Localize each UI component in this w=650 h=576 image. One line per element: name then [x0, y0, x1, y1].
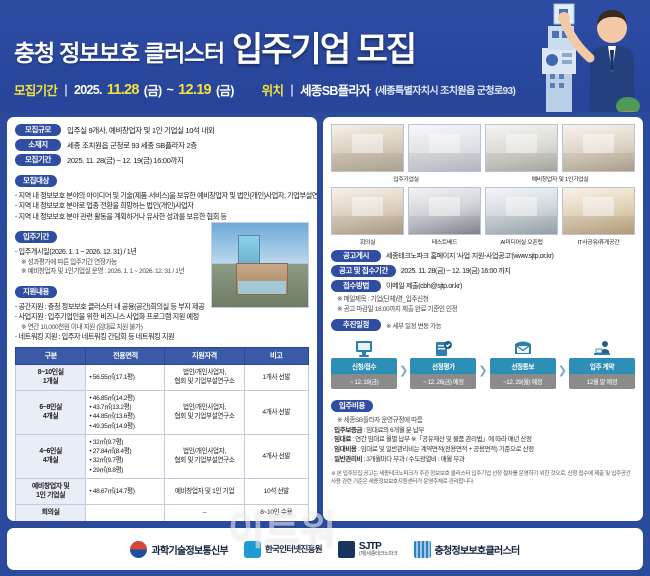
th-area: 전용면적 [86, 347, 165, 364]
facility-caption: IT사공유/휴게공간 [562, 237, 635, 246]
period-start-day: (금) [144, 80, 162, 99]
schedule-head: 추진일정 ※ 세부 일정 변동 가능 [331, 319, 635, 331]
building-glass [238, 281, 286, 294]
support-item: · 네트워킹 지원 : 입주자 네트워킹 간담회 등 네트워킹 지원 [15, 332, 205, 342]
cell-remark: 8~10인 수용 [244, 505, 308, 521]
schedule-step-date: ~ 12. 19(금) [331, 374, 397, 389]
notice-note-text: 공고 마감일 16:00까지 제출 완료 기준인 인정 [344, 306, 458, 313]
location-address: (세종특별자치시 조치원읍 군청로93) [375, 82, 515, 97]
label-target: 모집대상 [15, 175, 57, 187]
table-row: 6~8인실4개실• 46.85㎡(14.2평)• 43.7㎡(13.2평)• 4… [16, 391, 309, 435]
facility-caption-row2: 회의실 테스트베드 AI미디어실 오픈랩 IT사공유/휴게공간 [331, 237, 635, 246]
contract-icon [569, 336, 635, 358]
cluster-icon [414, 541, 431, 558]
poster-body: 모집규모 입주실 9개사, 예비창업자 및 1인 기업실 10석 내외 소재지 … [0, 112, 650, 524]
right-info-panel: 입주기업실 예비창업자 및 1인기업실 회의실 테스트베드 AI미디어실 오픈랩… [323, 117, 643, 521]
th-category: 구분 [16, 347, 86, 364]
logo-sjtp-text: SJTP [359, 541, 398, 552]
label-scale: 모집규모 [15, 124, 61, 136]
header-title: 입주기업 모집 [232, 22, 415, 71]
facility-photo [408, 124, 481, 172]
support-item: · 공간지원 : 충청 정보보호 클러스터 내 공용(공간)회의실 등 부지 제… [15, 302, 205, 312]
schedule-step-date: 12월 말 예정 [569, 374, 635, 389]
schedule-flow: 신청/접수 ~ 12. 19(금) ❯ 선정평가 ~ 12. 26(금) 예정 … [331, 336, 635, 389]
location-label: 위치 [262, 80, 284, 99]
cell-area: • 46.85㎡(14.2평)• 43.7㎡(13.2평)• 44.85㎡(13… [86, 391, 165, 435]
occupancy-note-text: 성과평가에 따른 입주기간 연장가능 [28, 259, 117, 266]
label-location: 소재지 [15, 139, 61, 151]
info-row-scale: 모집규모 입주실 9개사, 예비창업자 및 1인 기업실 10석 내외 [15, 124, 309, 136]
facility-caption: AI미디어실 오픈랩 [485, 237, 558, 246]
logo-sjtp-sub: (재)세종테크노파크 [359, 552, 398, 558]
facility-photo [485, 124, 558, 172]
th-remark: 비고 [244, 347, 308, 364]
section-head-support: 지원내용 [15, 281, 205, 299]
label-occupancy-period: 입주기간 [15, 231, 57, 243]
value-method: 이메일 제출(cbh@sjtp.or.kr) [386, 281, 462, 291]
label-period: 모집기간 [15, 154, 61, 166]
cell-category: 4~6인실4개실 [16, 434, 86, 478]
info-row-period: 모집기간 2025. 11. 28(금) ~ 12. 19(금) 16:00까지 [15, 154, 309, 166]
notice-row-method: 접수방법 이메일 제출(cbh@sjtp.or.kr) [331, 280, 635, 292]
logo-kisa-text: 한국인터넷진흥원 [265, 543, 322, 555]
period-separator: | [64, 83, 67, 97]
period-label: 모집기간 [14, 80, 57, 99]
schedule-step-title: 선정통보 [490, 358, 556, 374]
building-photo [211, 222, 309, 308]
logo-kisa: 한국인터넷진흥원 [244, 541, 322, 558]
left-info-panel: 모집규모 입주실 9개사, 예비창업자 및 1인 기업실 10석 내외 소재지 … [7, 117, 317, 521]
poster-root: 충청 정보보호 클러스터 입주기업 모집 모집기간 | 2025. 11.28 … [0, 0, 650, 576]
logo-cluster: 충청정보보호클러스터 [414, 541, 520, 558]
schedule-note: ※ 세부 일정 변동 가능 [386, 320, 441, 330]
label-support: 지원내용 [15, 286, 57, 298]
target-item-text: 지역 내 정보보호 분야 관련 활동을 계획하거나 유사한 성과를 보유한 협회… [19, 212, 227, 221]
label-window: 공고 및 접수기간 [331, 265, 396, 277]
cost-item-key: 임대비용 [334, 446, 356, 453]
period-support-text: 입주기간 · 입주개시일(2026. 1. 1 ~ 2026. 12. 31) … [15, 222, 205, 342]
cell-category: 회의실 [16, 505, 86, 521]
support-item-text: 사업지원 : 입주기업인을 위한 비즈니스 사업화 프로그램 지원 예정 [19, 312, 199, 321]
facility-photo-grid-row1 [331, 124, 635, 172]
cost-item-key: 일반관리비 [334, 456, 362, 463]
period-start: 11.28 [107, 82, 139, 98]
occupancy-note: ※ 예비창업자 및 1인기업실 운영 : 2026. 1. 1 ~ 2026. … [15, 267, 205, 277]
fine-print: ※ 본 입주모집 공고는 세종테크노파크가 주관 정보보호 클러스터 입주기업 … [331, 470, 635, 487]
poster-footer: 과학기술정보통신부 한국인터넷진흥원 SJTP (재)세종테크노파크 충청정보보… [7, 528, 643, 570]
facility-photo [331, 124, 404, 172]
header-title-row: 충청 정보보호 클러스터 입주기업 모집 [14, 22, 415, 71]
value-location: 세종 조치원읍 군청로 93 세종 SB플라자 2층 [67, 140, 197, 151]
cell-eligibility: – [165, 505, 244, 521]
period-year: 2025. [74, 83, 102, 97]
sjtp-icon [338, 541, 355, 558]
table-header-row: 구분 전용면적 지원자격 비고 [16, 347, 309, 364]
cell-remark: 1개사 선발 [244, 364, 308, 390]
facility-photo [562, 124, 635, 172]
support-note-text: 연간 10,000천원 이내 지원 (임대료 지원 불가) [28, 324, 143, 331]
cost-item-key: 임대료 [334, 436, 351, 443]
schedule-step-title: 입주 계약 [569, 358, 635, 374]
value-period: 2025. 11. 28(금) ~ 12. 19(금) 16:00까지 [67, 155, 184, 166]
cost-item-value: : 임대료의 6개월 분 납부 [362, 427, 424, 434]
target-item: · 지역 내 정보보호 분야로 업종 전환을 희망하는 법인(개인)사업자 [15, 201, 309, 211]
schedule-step-evaluation: 선정평가 ~ 12. 26(금) 예정 [410, 336, 476, 389]
notice-row-window: 공고 및 접수기간 2025. 11. 28(금) ~ 12. 19(금) 16… [331, 265, 635, 277]
location-separator: | [290, 83, 293, 97]
clipboard-check-icon [410, 336, 476, 358]
cell-category: 6~8인실4개실 [16, 391, 86, 435]
label-schedule: 추진일정 [331, 319, 381, 331]
section-head-target: 모집대상 [15, 170, 309, 188]
occupancy-item: · 입주개시일(2026. 1. 1 ~ 2026. 12. 31) / 1년 [15, 247, 205, 257]
facility-caption: 예비창업자 및 1인기업실 [485, 174, 635, 183]
monitor-icon [331, 336, 397, 358]
notice-note-text: 메일제목 : 기업(단체)명_입주신청 [344, 296, 429, 303]
flow-arrow-icon: ❯ [478, 364, 487, 389]
support-item-text: 공간지원 : 충청 정보보호 클러스터 내 공용(공간)회의실 등 부지 제공 [19, 302, 205, 311]
cell-area [86, 505, 165, 521]
period-end: 12.19 [178, 82, 211, 98]
cell-area: • 48.67㎡(14.7평) [86, 478, 165, 504]
logo-ministry: 과학기술정보통신부 [130, 541, 228, 558]
logo-cluster-text: 충청정보보호클러스터 [435, 542, 520, 557]
facility-photo [331, 187, 404, 235]
schedule-step-title: 신청/접수 [331, 358, 397, 374]
table-row: 4~6인실4개실• 32㎡(9.7평)• 27.84㎡(8.4평)• 32㎡(9… [16, 434, 309, 478]
notice-note: ※ 메일제목 : 기업(단체)명_입주신청 [331, 295, 635, 305]
label-method: 접수방법 [331, 280, 381, 292]
target-item-text: 지역 내 정보보호 분야의 아이디어 및 기술(제품·서비스)을 보유한 예비창… [19, 191, 317, 200]
occupancy-item-text: 입주개시일(2026. 1. 1 ~ 2026. 12. 31) / 1년 [19, 247, 137, 256]
target-item-text: 지역 내 정보보호 분야로 업종 전환을 희망하는 법인(개인)사업자 [19, 201, 194, 210]
facility-caption: 회의실 [331, 237, 404, 246]
period-end-day: (금) [216, 80, 234, 99]
mascot-illustration [528, 0, 646, 112]
logo-ministry-text: 과학기술정보통신부 [151, 542, 228, 557]
facility-photo [408, 187, 481, 235]
schedule-step-title: 선정평가 [410, 358, 476, 374]
facility-caption: 입주기업실 [331, 174, 481, 183]
cost-item-value: : 임대료 및 일반관리비는 계약면적(전용면적 + 공용면적) 기준으로 산정 [357, 446, 534, 453]
location-value: 세종SB플라자 [300, 80, 370, 99]
cell-area: • 32㎡(9.7평)• 27.84㎡(8.4평)• 32㎡(9.7평)• 29… [86, 434, 165, 478]
taegeuk-icon [130, 541, 147, 558]
cost-item: · 임대료 : 연간 임대료 월별 납부 ※「공유재산 및 물품 관리법」에 따… [331, 435, 635, 445]
facility-photo [562, 187, 635, 235]
target-item: · 지역 내 정보보호 분야의 아이디어 및 기술(제품·서비스)을 보유한 예… [15, 191, 309, 201]
cost-item-value: : 연간 임대료 월별 납부 ※「공유재산 및 물품 관리법」에 따라 매년 산… [351, 436, 532, 443]
flow-arrow-icon: ❯ [399, 364, 408, 389]
cell-remark: 4개사 선발 [244, 391, 308, 435]
table-row: 예비창업자 및1인 기업실• 48.67㎡(14.7평)예비창업자 및 1인 기… [16, 478, 309, 504]
section-head-cost: 입주비용 [331, 395, 635, 413]
label-cost: 입주비용 [331, 400, 373, 412]
cell-eligibility: 법인/개인사업자,협회 및 기업부설연구소 [165, 391, 244, 435]
facility-photo-grid-row2 [331, 187, 635, 235]
support-item: · 사업지원 : 입주기업인을 위한 비즈니스 사업화 프로그램 지원 예정 [15, 312, 205, 322]
schedule-step-date: ~12. 29(월) 예정 [490, 374, 556, 389]
value-window: 2025. 11. 28(금) ~ 12. 19(금) 16:00 까지 [401, 266, 511, 276]
schedule-step-date: ~ 12. 26(금) 예정 [410, 374, 476, 389]
schedule-step-contract: 입주 계약 12월 말 예정 [569, 336, 635, 389]
schedule-step-notification: 선정통보 ~12. 29(월) 예정 [490, 336, 556, 389]
header-meta: 모집기간 | 2025. 11.28 (금) ~ 12.19 (금) 위치 | … [14, 80, 515, 99]
table-body: 8~10인실1개실• 56.55㎡(17.1평)법인/개인사업자,협회 및 기업… [16, 364, 309, 521]
cell-area: • 56.55㎡(17.1평) [86, 364, 165, 390]
cell-eligibility: 법인/개인사업자,협회 및 기업부설연구소 [165, 364, 244, 390]
notice-row-posting: 공고게시 세종테크노파크 홈페이지 '사업·지원-사업공고'(www.sjtp.… [331, 250, 635, 262]
value-posting: 세종테크노파크 홈페이지 '사업·지원-사업공고'(www.sjtp.or.kr… [386, 251, 553, 261]
facility-caption: 테스트베드 [408, 237, 481, 246]
table-row: 회의실–8~10인 수용 [16, 505, 309, 521]
flow-arrow-icon: ❯ [558, 364, 567, 389]
mail-icon [490, 336, 556, 358]
cell-category: 8~10인실1개실 [16, 364, 86, 390]
kisa-icon [244, 541, 261, 558]
cell-eligibility: 법인/개인사업자,협회 및 기업부설연구소 [165, 434, 244, 478]
cost-item-key: 입주보증금 [334, 427, 362, 434]
cost-item: · 임대비용 : 임대료 및 일반관리비는 계약면적(전용면적 + 공용면적) … [331, 445, 635, 455]
facility-photo [485, 187, 558, 235]
support-note: ※ 연간 10,000천원 이내 지원 (임대료 지원 불가) [15, 323, 205, 333]
label-posting: 공고게시 [331, 250, 381, 262]
support-item-text: 네트워킹 지원 : 입주자 네트워킹 간담회 등 네트워킹 지원 [19, 332, 175, 341]
period-support-block: 입주기간 · 입주개시일(2026. 1. 1 ~ 2026. 12. 31) … [15, 222, 309, 342]
cell-remark: 4개사 선발 [244, 434, 308, 478]
cell-remark: 10석 선발 [244, 478, 308, 504]
cost-item: · 일반관리비 : 3개월마다 부과 / 수도광열비 : 매월 부과 [331, 455, 635, 465]
cell-eligibility: 예비창업자 및 1인 기업 [165, 478, 244, 504]
section-head-occupancy: 입주기간 [15, 226, 205, 244]
th-eligibility: 지원자격 [165, 347, 244, 364]
cost-item-value: : 3개월마다 부과 / 수도광열비 : 매월 부과 [362, 456, 464, 463]
room-spec-table: 구분 전용면적 지원자격 비고 8~10인실1개실• 56.55㎡(17.1평)… [15, 347, 309, 521]
target-item: · 지역 내 정보보호 분야 관련 활동을 계획하거나 유사한 성과를 보유한 … [15, 212, 309, 222]
header-subtitle: 충청 정보보호 클러스터 [14, 34, 224, 68]
schedule-step-application: 신청/접수 ~ 12. 19(금) [331, 336, 397, 389]
value-scale: 입주실 9개사, 예비창업자 및 1인 기업실 10석 내외 [67, 125, 215, 136]
poster-header: 충청 정보보호 클러스터 입주기업 모집 모집기간 | 2025. 11.28 … [0, 0, 650, 112]
logo-sjtp: SJTP (재)세종테크노파크 [338, 541, 398, 558]
info-row-location: 소재지 세종 조치원읍 군청로 93 세종 SB플라자 2층 [15, 139, 309, 151]
occupancy-note-text: 예비창업자 및 1인기업실 운영 : 2026. 1. 1 ~ 2026. 12… [28, 268, 185, 275]
cost-top-note: ※ 세종SB플라자 운영규정에 따름 [331, 416, 635, 426]
period-tilde: ~ [167, 83, 174, 97]
occupancy-note: ※ 성과평가에 따른 입주기간 연장가능 [15, 258, 205, 268]
notice-note: ※ 공고 마감일 16:00까지 제출 완료 기준인 인정 [331, 305, 635, 315]
cost-top-note-text: 세종SB플라자 운영규정에 따름 [344, 417, 423, 424]
table-row: 8~10인실1개실• 56.55㎡(17.1평)법인/개인사업자,협회 및 기업… [16, 364, 309, 390]
facility-caption-row1: 입주기업실 예비창업자 및 1인기업실 [331, 174, 635, 183]
cost-item: · 입주보증금 : 임대료의 6개월 분 납부 [331, 426, 635, 436]
cell-category: 예비창업자 및1인 기업실 [16, 478, 86, 504]
